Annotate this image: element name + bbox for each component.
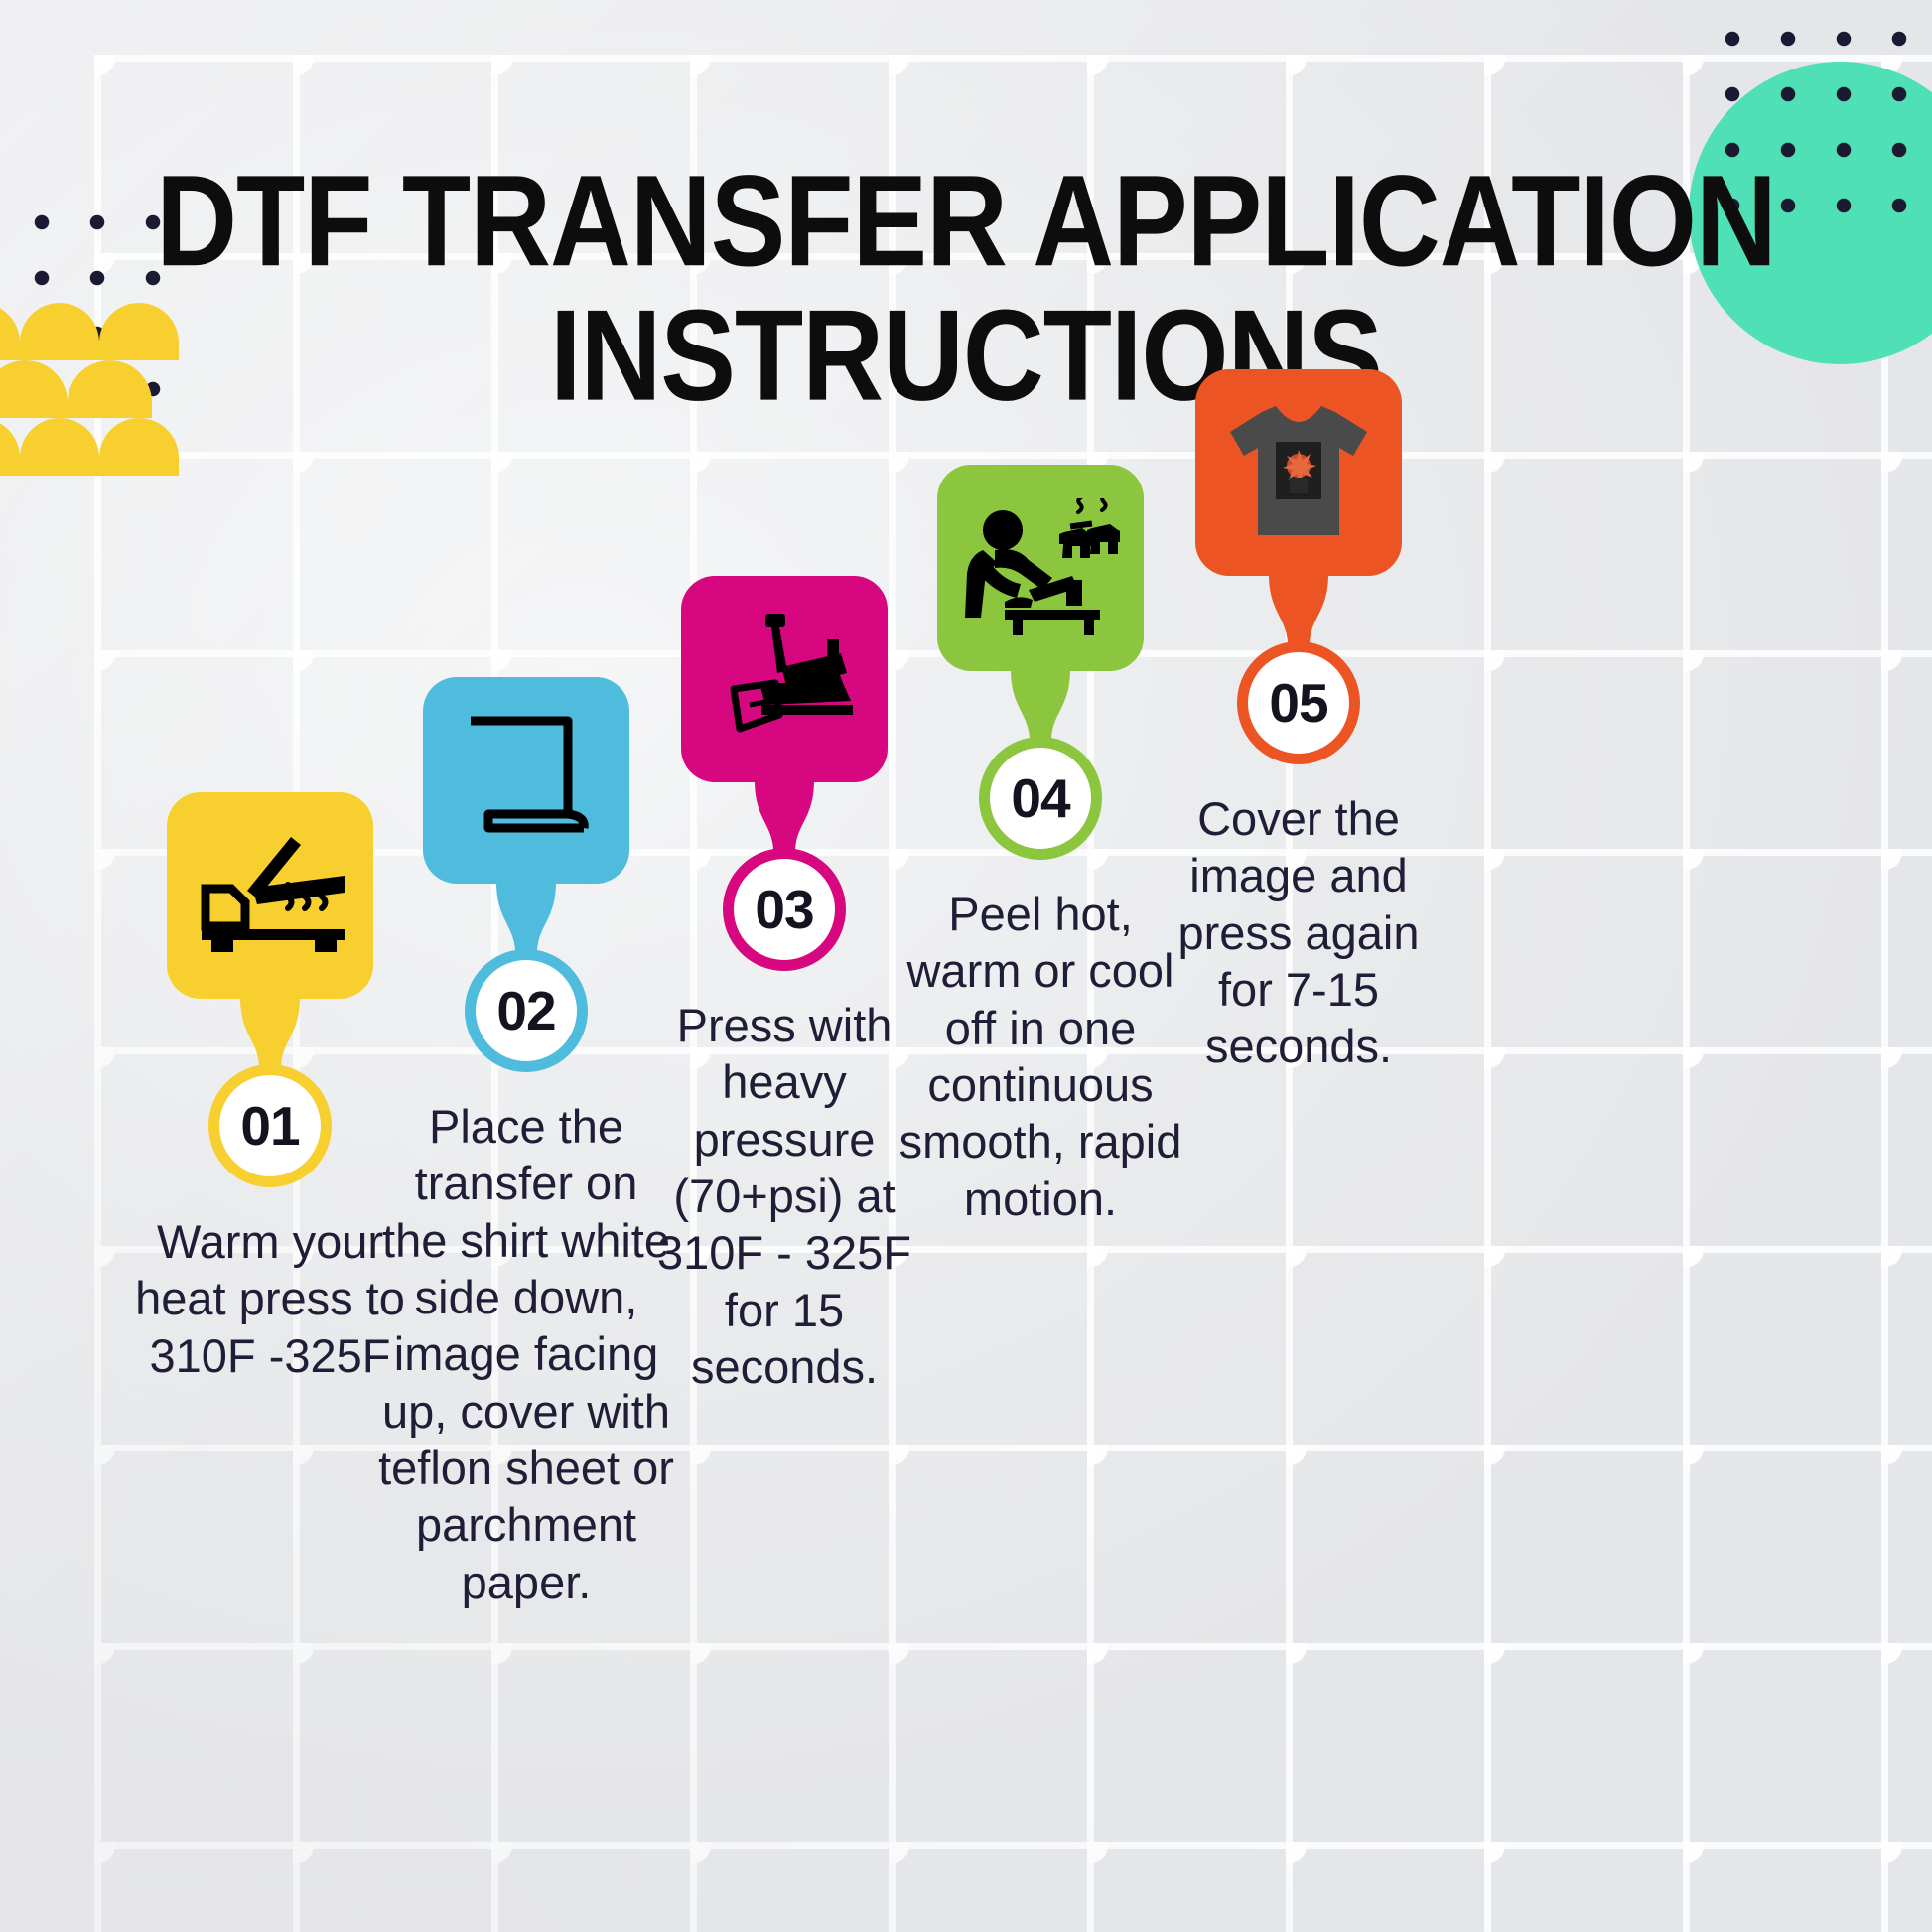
step-03-number-label: 03 (755, 878, 813, 941)
step-04-number-badge: 04 (979, 737, 1102, 860)
step-02-number-badge: 02 (465, 949, 588, 1072)
step-02-icon-card[interactable] (423, 677, 629, 884)
step-01-description: Warm your heat press to 310F -325F (121, 1213, 419, 1384)
steps-container: 01Warm your heat press to 310F -325F 02P… (0, 0, 1932, 1932)
heat-press-icon (196, 831, 345, 960)
peeling-person-icon (961, 498, 1120, 637)
step-03-description: Press with heavy pressure (70+psi) at 31… (635, 997, 933, 1395)
transfer-sheet-icon (457, 711, 596, 850)
step-02-number-label: 02 (496, 979, 555, 1042)
step-05-number-label: 05 (1269, 671, 1327, 735)
step-05-icon-card[interactable] (1195, 369, 1402, 576)
step-05: 05Cover the image and press again for 7-… (1150, 369, 1448, 1075)
step-03: 03Press with heavy pressure (70+psi) at … (635, 576, 933, 1395)
step-01: 01Warm your heat press to 310F -325F (121, 792, 419, 1384)
step-04-icon-card[interactable] (937, 465, 1144, 671)
step-01-icon-card[interactable] (167, 792, 373, 999)
step-03-number-badge: 03 (723, 848, 846, 971)
step-02: 02Place the transfer on the shirt white … (377, 677, 675, 1610)
step-04-number-label: 04 (1011, 766, 1069, 830)
step-03-icon-card[interactable] (681, 576, 888, 782)
step-05-number-badge: 05 (1237, 641, 1360, 764)
step-01-number-label: 01 (240, 1094, 299, 1158)
step-04: 04Peel hot, warm or cool off in one cont… (892, 465, 1189, 1227)
printed-tshirt-icon (1224, 398, 1373, 547)
step-01-number-badge: 01 (208, 1064, 332, 1187)
step-04-description: Peel hot, warm or cool off in one contin… (892, 886, 1189, 1227)
step-05-description: Cover the image and press again for 7-15… (1150, 790, 1448, 1075)
press-with-paper-icon (710, 610, 859, 749)
step-02-description: Place the transfer on the shirt white si… (377, 1098, 675, 1610)
